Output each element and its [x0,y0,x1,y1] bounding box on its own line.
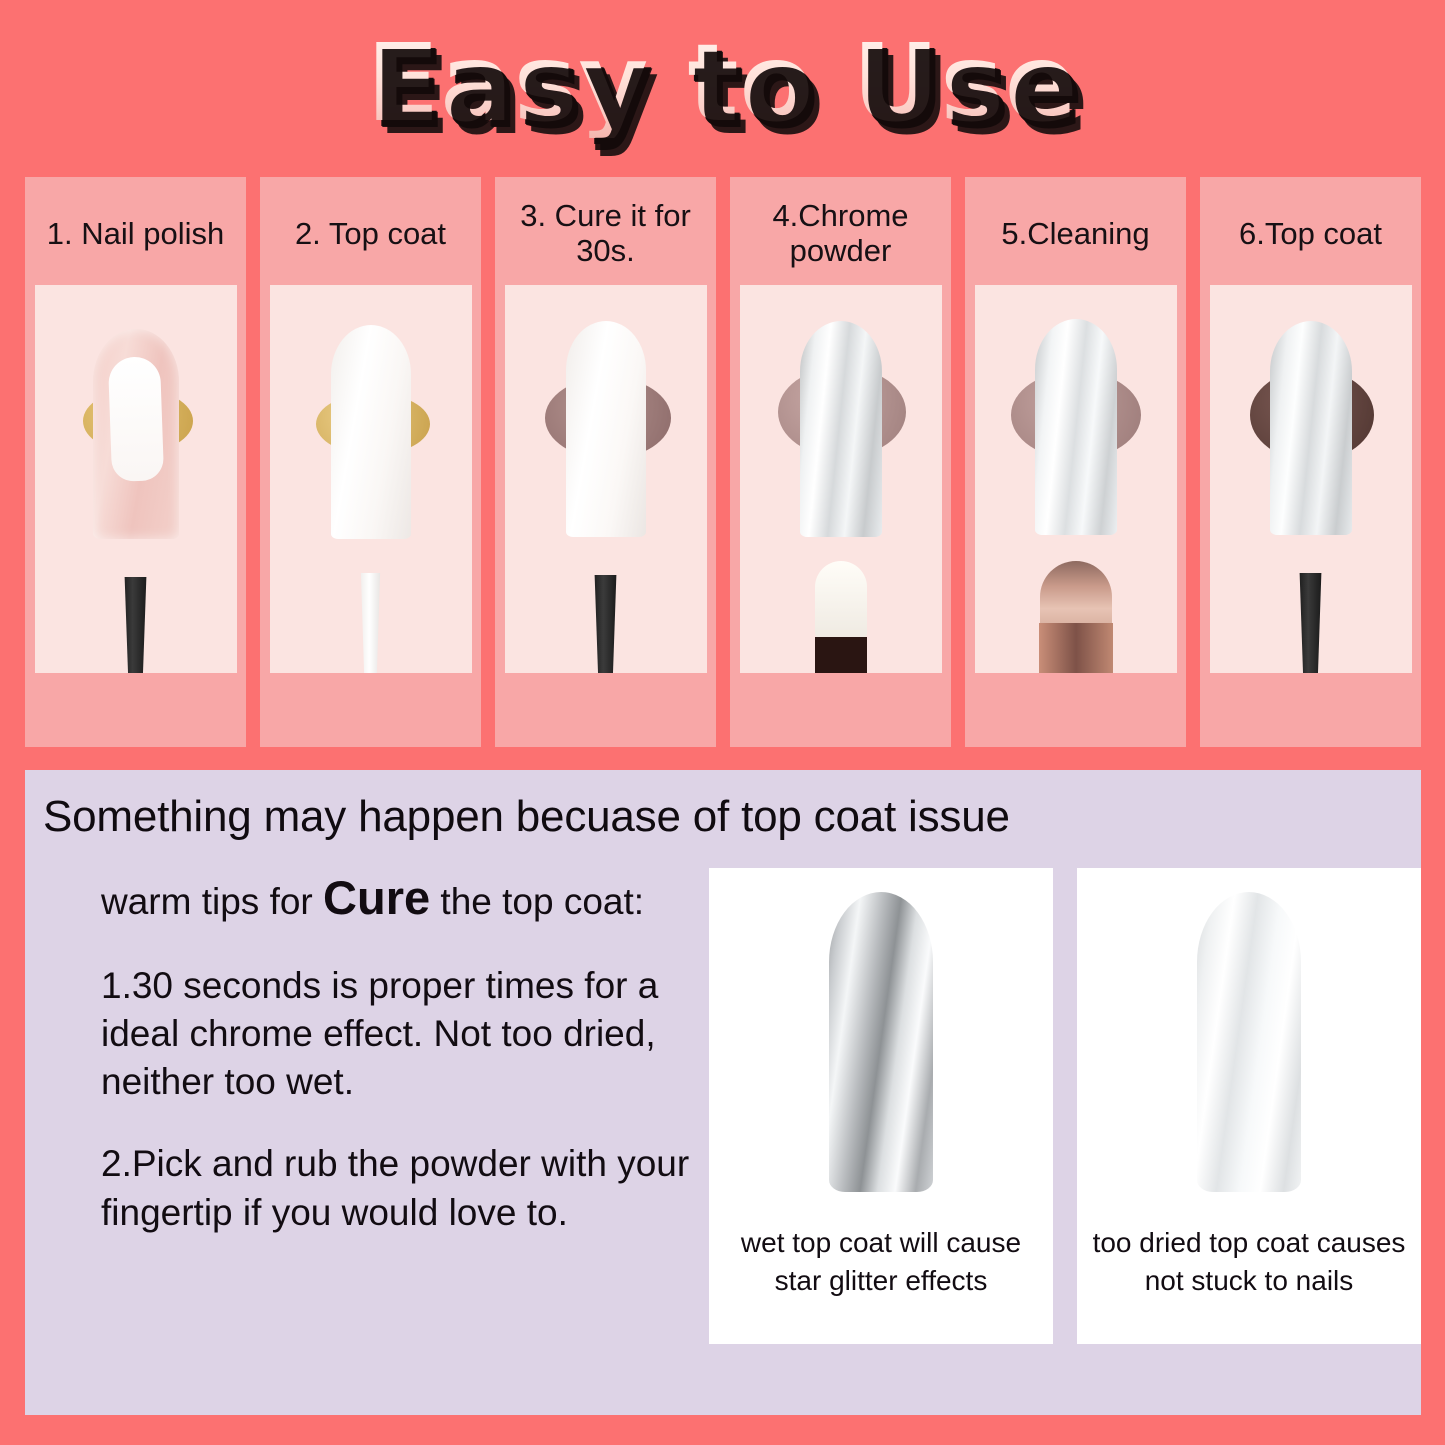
step-card-4: 4.Chrome powder [730,177,951,747]
step-label-3: 3. Cure it for 30s. [495,183,716,285]
white-sponge-applicator-icon [815,561,867,639]
tip-item-2: 2.Pick and rub the powder with your fing… [101,1140,703,1236]
dark-chrome-long-nail-icon [829,892,933,1192]
step-card-3: 3. Cure it for 30s. [495,177,716,747]
white-glossy-nail-icon [331,325,411,539]
black-brush-icon [1294,573,1328,673]
chrome-nail-icon [800,321,882,537]
chrome-nail-icon [1035,319,1117,535]
step-label-6: 6.Top coat [1235,183,1386,285]
step-photo-6 [1210,285,1412,673]
white-glossy-nail-icon [566,321,646,537]
step-photo-5 [975,285,1177,673]
white-polish-patch-icon [107,356,163,482]
step-card-6: 6.Top coat [1200,177,1421,747]
black-brush-icon [119,577,153,673]
step-photo-3 [505,285,707,673]
compare-image-wet [709,868,1053,1220]
step-card-2: 2. Top coat [260,177,481,747]
step-label-5: 5.Cleaning [997,183,1153,285]
tips-lead-before: warm tips for [101,881,323,922]
tip-item-1: 1.30 seconds is proper times for a ideal… [101,962,703,1106]
step-label-2: 2. Top coat [291,183,450,285]
top-coat-issue-panel: Something may happen becuase of top coat… [25,770,1421,1415]
panel-body: warm tips for Cure the top coat: 1.30 se… [25,842,1421,1344]
compare-caption-dried: too dried top coat causes not stuck to n… [1077,1220,1421,1300]
step-photo-1 [35,285,237,673]
step-label-4: 4.Chrome powder [730,183,951,285]
chrome-nail-icon [1270,321,1352,535]
page-title: Easy to Use [366,31,1078,138]
step-label-1: 1. Nail polish [43,183,228,285]
step-photo-4 [740,285,942,673]
steps-strip: 1. Nail polish 2. Top coat 3. Cure it fo… [25,177,1421,747]
title-banner: Easy to Use [0,24,1445,144]
compare-card-wet: wet top coat will cause star glitter eff… [709,868,1053,1344]
tips-lead-emphasis: Cure [323,871,430,924]
pearl-white-long-nail-icon [1197,892,1301,1192]
infographic-page: Easy to Use 1. Nail polish 2. Top coat [0,0,1445,1445]
step-card-5: 5.Cleaning [965,177,1186,747]
white-brush-icon [355,573,387,673]
compare-caption-wet: wet top coat will cause star glitter eff… [709,1220,1053,1300]
compare-card-dried: too dried top coat causes not stuck to n… [1077,868,1421,1344]
brush-ferrule-icon [1039,623,1113,673]
step-card-1: 1. Nail polish [25,177,246,747]
tips-lead: warm tips for Cure the top coat: [101,868,703,928]
tips-column: warm tips for Cure the top coat: 1.30 se… [25,868,703,1344]
compare-image-dried [1077,868,1421,1220]
rose-gold-dust-brush-icon [1040,561,1112,627]
step-photo-2 [270,285,472,673]
panel-heading: Something may happen becuase of top coat… [25,770,1421,842]
compare-column: wet top coat will cause star glitter eff… [703,868,1421,1344]
tips-lead-after: the top coat: [430,881,644,922]
black-brush-icon [589,575,623,673]
applicator-base-icon [815,637,867,673]
